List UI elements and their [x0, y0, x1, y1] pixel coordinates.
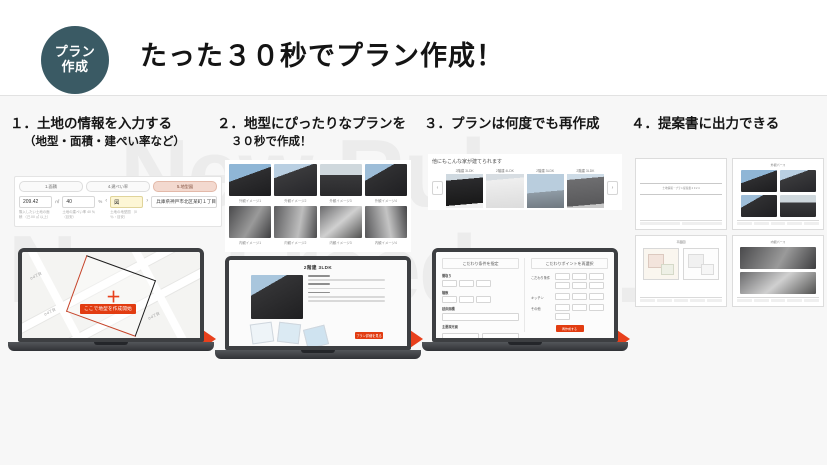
page-footer [737, 297, 819, 303]
condition-row: こだわり条件 [531, 273, 608, 289]
plan-detail-button[interactable]: プラン詳細を見る [355, 332, 383, 339]
spec-key [308, 283, 330, 285]
interior-render-image [740, 272, 816, 294]
carousel-card[interactable]: 2階建 3LDK [567, 168, 604, 208]
spec-key [308, 275, 330, 277]
option-chip[interactable] [442, 296, 457, 303]
floorplan-thumb[interactable] [277, 322, 301, 345]
interior-render-image [274, 206, 316, 238]
option-chip[interactable] [572, 273, 587, 280]
laptop-base [8, 342, 214, 351]
spec-value [308, 300, 385, 302]
option-chip[interactable] [589, 304, 604, 311]
plan-gallery: 外観イメージ1 外観イメージ2 外観イメージ3 外観イメージ4 [225, 160, 411, 252]
carousel-card[interactable]: 2階建 4LDK [486, 168, 523, 208]
range-max-input[interactable] [482, 333, 519, 341]
address-input[interactable]: 兵庫県神戸市北区某町１丁目 [151, 196, 217, 208]
laptop-screen-map: 0-0丁目 0-0丁目 0-0丁目 ＋ ここで地型を作成開始 [18, 248, 204, 342]
condition-label: こだわり条件 [531, 273, 551, 280]
page-title: 平面図 [640, 240, 722, 244]
carousel-card[interactable]: 2階建 3LDK [446, 168, 483, 208]
condition-form: こだわり条件を指定 間取り 階数 [436, 252, 614, 338]
gallery-item[interactable]: 内観イメージ4 [365, 206, 407, 245]
condition-right-button[interactable]: 再作成する [556, 325, 584, 332]
step-1-title: １．土地の情報を入力する [10, 114, 216, 134]
gallery-caption: 外観イメージ2 [274, 198, 316, 203]
condition-label: その他 [531, 304, 551, 311]
area-unit: ㎡ [55, 199, 59, 205]
floorplan-drawing [643, 248, 679, 280]
step-column-4: ４．提案書に出力できる 土地情報・プラン提案書 2 0 2 4 外観パース [629, 96, 827, 465]
ratio-hint: 土地の建ぺい率 40 ％（目安） [62, 210, 95, 220]
spec-value [308, 296, 385, 298]
carousel-render-image [446, 174, 483, 208]
laptop-screen-conditions: こだわり条件を指定 間取り 階数 [432, 248, 618, 342]
document-page[interactable]: 内観パース [732, 235, 824, 307]
option-chip[interactable] [572, 293, 587, 300]
map-road-label: 0-0丁目 [148, 311, 161, 321]
interior-render-image [740, 247, 816, 269]
interior-render-image [229, 206, 271, 238]
plan-badge: プラン 作成 [41, 26, 109, 94]
option-chip[interactable] [572, 282, 587, 289]
gallery-row-exterior: 外観イメージ1 外観イメージ2 外観イメージ3 外観イメージ4 [229, 164, 407, 203]
page-rule [640, 194, 722, 195]
carousel-title: 他にもこんな家が建てられます [432, 158, 618, 165]
laptop-plan-detail-mock: 2階建 3LDK [225, 256, 411, 359]
step-1-subtitle: （地型・面積・建ぺい率など） [24, 134, 230, 151]
land-input-form: 1.面積 4.建ぺい率 5.地型図 209.42 購入したい土地の面積 （己.0… [14, 176, 222, 227]
carousel-caption: 2階建 3LDK [527, 168, 564, 173]
form-tabs: 1.面積 4.建ぺい率 5.地型図 [19, 181, 217, 192]
plan-badge-line2: 作成 [61, 60, 88, 75]
chip-group [555, 293, 604, 300]
carousel-caption: 2階建 3LDK [567, 168, 604, 173]
slide-root: プラン 作成 たった３０秒でプラン作成！ New Rule New Freedo… [0, 0, 827, 465]
option-chip[interactable] [589, 282, 604, 289]
carousel-card[interactable]: 2階建 3LDK [527, 168, 564, 208]
document-page[interactable]: 土地情報・プラン提案書 2 0 2 4 [635, 158, 727, 230]
map-center-marker: ＋ [106, 290, 121, 305]
form-fields-row: 209.42 購入したい土地の面積 （己.00 ㎡ 以上） ㎡ 40 土地の建ぺ… [19, 196, 217, 220]
laptop-condition-form-mock: こだわり条件を指定 間取り 階数 [432, 248, 618, 351]
form-prev-button[interactable]: ‹ [105, 198, 107, 204]
page-footer [640, 297, 722, 303]
floorplan-drawing [683, 248, 719, 280]
gallery-item[interactable]: 外観イメージ3 [320, 164, 362, 203]
gallery-item[interactable]: 内観イメージ1 [229, 206, 271, 245]
chip-group [442, 280, 519, 287]
spec-value [308, 288, 385, 290]
exterior-render-image [229, 164, 271, 196]
floorplan-thumb[interactable] [250, 322, 275, 345]
carousel-render-image [567, 174, 604, 208]
laptop-base [422, 342, 628, 351]
proposal-document-pages: 土地情報・プラン提案書 2 0 2 4 外観パース [635, 158, 827, 307]
exterior-render-image [780, 170, 816, 192]
gallery-item[interactable]: 内観イメージ3 [320, 206, 362, 245]
gallery-item[interactable]: 外観イメージ4 [365, 164, 407, 203]
exterior-render-image [365, 164, 407, 196]
interior-render-image [320, 206, 362, 238]
laptop-map-mock: 0-0丁目 0-0丁目 0-0丁目 ＋ ここで地型を作成開始 [18, 248, 204, 351]
floorplan-thumb[interactable] [303, 325, 329, 350]
form-tab-shape[interactable]: 5.地型図 [153, 181, 217, 192]
condition-label: 延床面積 [442, 306, 519, 311]
gallery-row-interior: 内観イメージ1 内観イメージ2 内観イメージ3 内観イメージ4 [229, 206, 407, 245]
option-chip[interactable] [555, 282, 570, 289]
step-3-title: ３．プランは何度でも再作成 [424, 114, 630, 134]
plan-detail-main [251, 275, 385, 319]
laptop-screen-detail: 2階建 3LDK [225, 256, 411, 350]
area-field-cell: 209.42 購入したい土地の面積 （己.00 ㎡ 以上） [19, 196, 52, 220]
carousel-render-image [527, 174, 564, 208]
exterior-render-image [274, 164, 316, 196]
option-chip[interactable] [589, 273, 604, 280]
chip-group [555, 304, 608, 320]
carousel-track: ‹ 2階建 3LDK 2階建 4LDK 2階建 3LDK 2階建 3LD [432, 168, 618, 208]
document-page[interactable]: 外観パース [732, 158, 824, 230]
range-min-input[interactable] [442, 333, 479, 341]
gallery-caption: 内観イメージ3 [320, 240, 362, 245]
plan-carousel: 他にもこんな家が建てられます ‹ 2階建 3LDK 2階建 4LDK 2階建 3… [428, 154, 622, 210]
condition-row: キッチン [531, 293, 608, 300]
form-tab-ratio[interactable]: 4.建ぺい率 [86, 181, 150, 192]
gallery-caption: 外観イメージ4 [365, 198, 407, 203]
area-hint: 購入したい土地の面積 （己.00 ㎡ 以上） [19, 210, 52, 220]
gallery-caption: 内観イメージ2 [274, 240, 316, 245]
step-column-1: １．土地の情報を入力する （地型・面積・建ぺい率など） 1.面積 4.建ぺい率 … [8, 96, 212, 465]
plan-detail-page: 2階建 3LDK [229, 260, 407, 346]
map-road-label: 0-0丁目 [30, 271, 43, 281]
option-chip[interactable] [589, 293, 604, 300]
page-title: たった３０秒でプラン作成！ [140, 34, 504, 73]
page-title: 内観パース [737, 240, 819, 244]
spec-key [308, 292, 330, 294]
condition-row: その他 [531, 304, 608, 320]
gallery-item[interactable]: 外観イメージ2 [274, 164, 316, 203]
cover-text: 土地情報・プラン提案書 2 0 2 4 [640, 187, 722, 192]
shape-input[interactable]: 図 [110, 196, 143, 208]
condition-left-title: こだわり条件を指定 [442, 258, 519, 269]
condition-right-title: こだわりポイントを再選択 [531, 258, 608, 269]
area-input[interactable]: 209.42 [19, 196, 52, 208]
shape-field-cell: 図 土地の地型図 （0 ％・目安） [110, 196, 143, 220]
condition-form-left: こだわり条件を指定 間取り 階数 [442, 258, 525, 332]
option-chip[interactable] [555, 293, 570, 300]
exterior-render-image [741, 195, 777, 217]
form-next-button[interactable]: › [146, 198, 148, 204]
shape-hint: 土地の地型図 （0 ％・目安） [110, 210, 143, 220]
page-title: 外観パース [737, 163, 819, 167]
condition-label: 間取り [442, 273, 519, 278]
plan-badge-line1: プラン [55, 45, 96, 60]
condition-label: 階数 [442, 290, 519, 295]
ratio-unit: % [98, 199, 102, 204]
plan-spec-list [308, 275, 385, 319]
option-chip[interactable] [572, 304, 587, 311]
option-chip[interactable] [476, 280, 491, 287]
select-input[interactable] [442, 313, 519, 321]
gallery-caption: 内観イメージ1 [229, 240, 271, 245]
parcel-map[interactable]: 0-0丁目 0-0丁目 0-0丁目 ＋ ここで地型を作成開始 [22, 252, 200, 338]
exterior-render-image [780, 195, 816, 217]
interior-render-image [365, 206, 407, 238]
map-start-tag[interactable]: ここで地型を作成開始 [80, 304, 136, 314]
step-column-3: ３．プランは何度でも再作成 他にもこんな家が建てられます ‹ 2階建 3LDK … [422, 96, 626, 465]
option-chip[interactable] [555, 313, 570, 320]
carousel-caption: 2階建 4LDK [486, 168, 523, 173]
gallery-caption: 外観イメージ3 [320, 198, 362, 203]
gallery-item[interactable]: 外観イメージ1 [229, 164, 271, 203]
form-tab-area[interactable]: 1.面積 [19, 181, 83, 192]
steps-band: New Rule New Freedom. １．土地の情報を入力する （地型・面… [0, 96, 827, 465]
ratio-field-cell: 40 土地の建ぺい率 40 ％（目安） [62, 196, 95, 220]
option-chip[interactable] [459, 280, 474, 287]
exterior-render-image [320, 164, 362, 196]
carousel-render-image [486, 174, 523, 208]
option-chip[interactable] [442, 280, 457, 287]
spec-value [308, 279, 385, 281]
option-chip[interactable] [476, 296, 491, 303]
document-page[interactable]: 平面図 [635, 235, 727, 307]
chip-group [442, 296, 519, 303]
condition-form-right: こだわりポイントを再選択 こだわり条件 [531, 258, 608, 332]
gallery-caption: 外観イメージ1 [229, 198, 271, 203]
gallery-item[interactable]: 内観イメージ2 [274, 206, 316, 245]
gallery-caption: 内観イメージ4 [365, 240, 407, 245]
ratio-input[interactable]: 40 [62, 196, 95, 208]
step-2-subtitle: ３０秒で作成！ [231, 134, 437, 151]
laptop-base [215, 350, 421, 359]
step-4-title: ４．提案書に出力できる [631, 114, 827, 134]
condition-label: 主要採光面 [442, 324, 519, 329]
slide-header: プラン 作成 たった３０秒でプラン作成！ [0, 0, 827, 96]
page-footer [640, 220, 722, 226]
exterior-render-image [741, 170, 777, 192]
condition-label: キッチン [531, 293, 551, 300]
option-chip[interactable] [459, 296, 474, 303]
step-column-2: ２．地型にぴったりなプランを ３０秒で作成！ 外観イメージ1 外観イメージ2 外… [215, 96, 419, 465]
carousel-prev-button[interactable]: ‹ [432, 181, 443, 195]
floorplan-grid [640, 248, 722, 280]
range-row [442, 331, 519, 341]
page-image-grid [737, 170, 819, 217]
carousel-caption: 2階建 3LDK [446, 168, 483, 173]
page-footer [737, 220, 819, 226]
carousel-next-button[interactable]: › [607, 181, 618, 195]
option-chip[interactable] [555, 273, 570, 280]
plan-detail-title: 2階建 3LDK [251, 265, 385, 271]
plan-hero-render [251, 275, 303, 319]
chip-group [555, 273, 608, 289]
page-rule [640, 183, 722, 184]
step-2-title: ２．地型にぴったりなプランを [217, 114, 423, 134]
option-chip[interactable] [555, 304, 570, 311]
